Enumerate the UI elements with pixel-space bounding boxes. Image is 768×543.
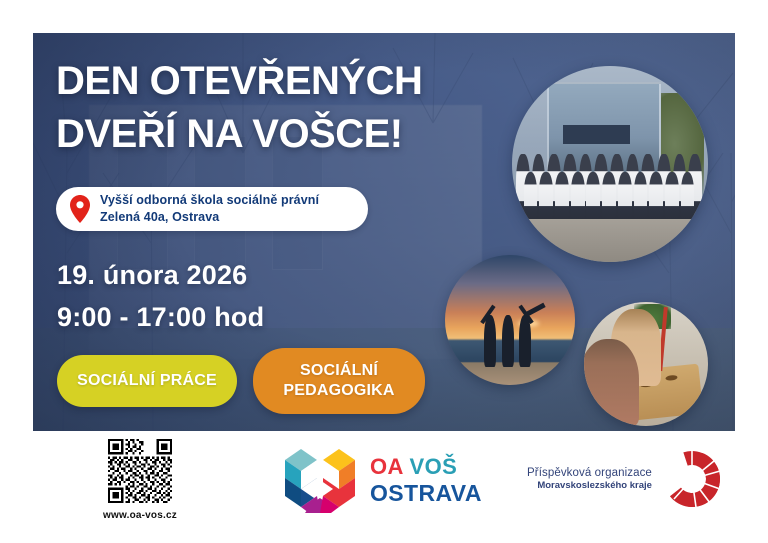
beach-photo xyxy=(445,255,575,385)
beach-photo-figure xyxy=(502,315,514,367)
group-photo-people xyxy=(512,129,708,219)
badge-socialni-prace-label: SOCIÁLNÍ PRÁCE xyxy=(77,372,217,390)
region-logo-line-2: Moravskoslezského kraje xyxy=(527,480,652,491)
badge-socialni-pedagogika[interactable]: SOCIÁLNÍ PEDAGOGIKA xyxy=(253,348,425,414)
beach-photo-figure xyxy=(484,315,496,367)
event-datetime: 19. února 2026 9:00 - 17:00 hod xyxy=(57,255,264,339)
footer-bar: www.oa-vos.cz xyxy=(0,431,768,543)
region-logo-text: Příspěvková organizace Moravskoslezského… xyxy=(527,467,652,491)
badge-socialni-prace[interactable]: SOCIÁLNÍ PRÁCE xyxy=(57,355,237,407)
region-logo[interactable]: Příspěvková organizace Moravskoslezského… xyxy=(527,449,722,509)
event-date: 19. února 2026 xyxy=(57,260,247,290)
headline-line-2: DVEŘÍ NA VOŠCE! xyxy=(56,108,496,161)
school-logo-ostrava: OSTRAVA xyxy=(370,482,482,505)
school-logo-vos: VOŠ xyxy=(410,454,458,479)
badge-socialni-pedagogika-line-1: SOCIÁLNÍ xyxy=(300,362,378,379)
address-pill: Vyšší odborná škola sociálně právní Zele… xyxy=(56,187,368,231)
address-text: Vyšší odborná škola sociálně právní Zele… xyxy=(100,192,319,225)
qr-block: www.oa-vos.cz xyxy=(86,439,194,521)
qr-code-icon[interactable] xyxy=(108,439,172,503)
activity-photo-senior xyxy=(584,339,639,426)
activity-photo xyxy=(584,302,708,426)
school-logo-line-1: OA VOŠ xyxy=(370,456,482,478)
program-badges: SOCIÁLNÍ PRÁCE SOCIÁLNÍ PEDAGOGIKA xyxy=(57,348,425,414)
school-logo-oa: OA xyxy=(370,454,403,479)
address-line-1: Vyšší odborná škola sociálně právní xyxy=(100,193,319,207)
school-logo-wordmark: OA VOŠ OSTRAVA xyxy=(370,456,482,505)
event-poster: DEN OTEVŘENÝCH DVEŘÍ NA VOŠCE! Vyšší odb… xyxy=(33,33,735,431)
heart-mosaic-icon xyxy=(283,447,357,513)
badge-socialni-pedagogika-label: SOCIÁLNÍ PEDAGOGIKA xyxy=(283,361,394,400)
map-pin-icon xyxy=(70,195,90,223)
address-line-2: Zelená 40a, Ostrava xyxy=(100,209,319,226)
school-logo[interactable]: OA VOŠ OSTRAVA xyxy=(283,447,482,513)
badge-socialni-pedagogika-line-2: PEDAGOGIKA xyxy=(283,381,394,401)
event-time: 9:00 - 17:00 hod xyxy=(57,297,264,339)
poster-headline: DEN OTEVŘENÝCH DVEŘÍ NA VOŠCE! xyxy=(56,55,496,161)
poster-page: DEN OTEVŘENÝCH DVEŘÍ NA VOŠCE! Vyšší odb… xyxy=(0,0,768,543)
qr-caption: www.oa-vos.cz xyxy=(86,510,194,521)
region-ring-icon xyxy=(662,449,722,509)
region-logo-line-1: Příspěvková organizace xyxy=(527,467,652,479)
activity-photo-hole xyxy=(665,375,678,382)
headline-line-1: DEN OTEVŘENÝCH xyxy=(56,59,422,103)
group-photo xyxy=(512,66,708,262)
